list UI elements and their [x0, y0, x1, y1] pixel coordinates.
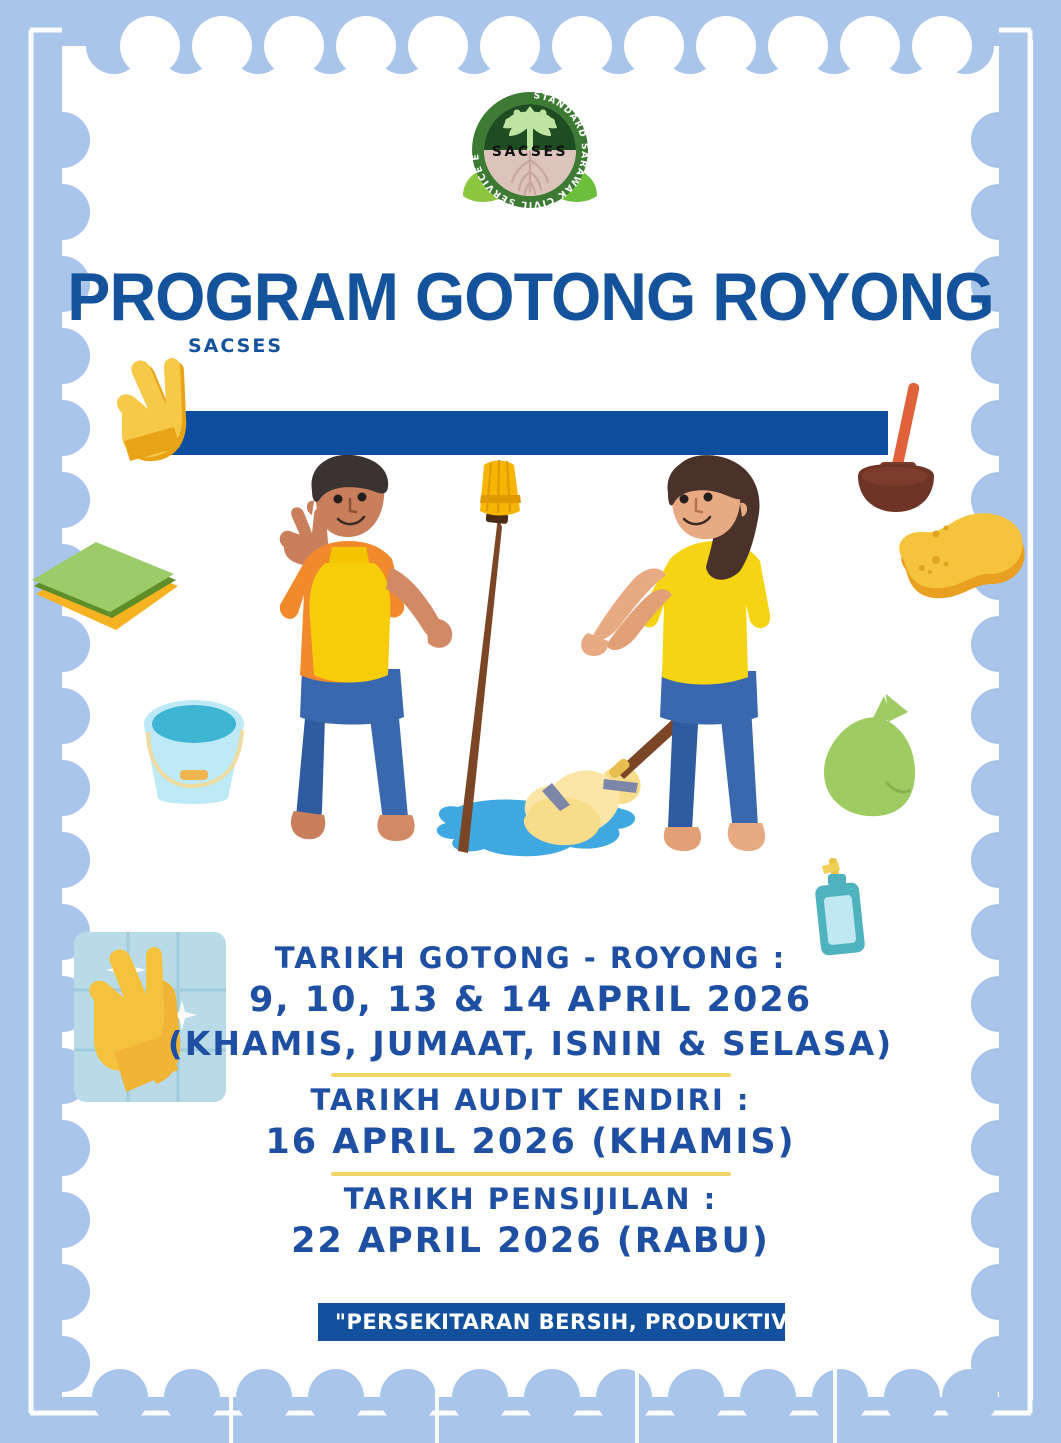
plunger-icon: [848, 378, 958, 518]
bucket-icon: [128, 692, 258, 812]
gotong-royong-date: 9, 10, 13 & 14 APRIL 2026: [0, 978, 1061, 1024]
green-sponge-icon: [26, 538, 186, 638]
page-title: PROGRAM GOTONG ROYONG: [27, 258, 1035, 336]
divider-rule-1: [331, 1073, 731, 1077]
logo-center-text: SACSES: [492, 144, 568, 160]
character-boy: [280, 455, 452, 841]
audit-kendiri-heading: TARIKH AUDIT KENDIRI :: [0, 1082, 1061, 1120]
trash-bag-icon: [812, 686, 932, 826]
title-accent-bar: [170, 411, 888, 455]
broom-icon: [458, 460, 521, 853]
rubber-gloves-icon: [96, 355, 216, 475]
poster-root: SACSES STANDARD SARAWAK CIVIL SERVICE EN…: [0, 0, 1061, 1443]
pensijilan-date: 22 APRIL 2026 (RABU): [0, 1219, 1061, 1265]
divider-rule-2: [331, 1172, 731, 1176]
yellow-sponge-icon: [892, 498, 1032, 618]
page-subtitle: SACSES: [188, 335, 283, 357]
quote-banner: "PERSEKITARAN BERSIH, PRODUKTIVITI MENIN…: [318, 1303, 785, 1341]
illustration-characters: [270, 455, 800, 905]
gotong-royong-days: (KHAMIS, JUMAAT, ISNIN & SELASA): [0, 1023, 1061, 1066]
dates-block: TARIKH GOTONG - ROYONG : 9, 10, 13 & 14 …: [0, 940, 1061, 1264]
gotong-royong-heading: TARIKH GOTONG - ROYONG :: [0, 940, 1061, 978]
quote-text: "PERSEKITARAN BERSIH, PRODUKTIVITI MENIN…: [335, 1310, 785, 1334]
pensijilan-heading: TARIKH PENSIJILAN :: [0, 1181, 1061, 1219]
sacses-logo: SACSES STANDARD SARAWAK CIVIL SERVICE EN…: [405, 88, 655, 223]
audit-kendiri-date: 16 APRIL 2026 (KHAMIS): [0, 1120, 1061, 1166]
